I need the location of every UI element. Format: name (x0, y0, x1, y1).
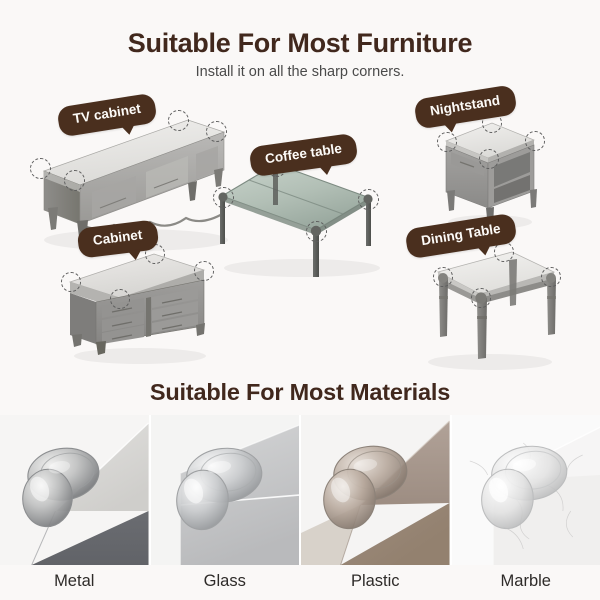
material-cell-metal (0, 415, 149, 565)
furniture-section-subtitle: Install it on all the sharp corners. (0, 64, 600, 80)
material-cell-glass (151, 415, 300, 565)
corner-marker (64, 170, 85, 191)
material-label-metal: Metal (0, 566, 149, 600)
material-label-glass: Glass (151, 566, 300, 600)
furniture-cabinet: Cabinet (58, 236, 218, 366)
corner-marker (306, 221, 327, 242)
corner-marker (437, 132, 457, 152)
corner-marker (213, 187, 234, 208)
corner-marker (479, 149, 499, 169)
material-label-plastic: Plastic (301, 566, 450, 600)
corner-guard-marble (452, 415, 600, 565)
corner-marker (541, 267, 561, 287)
corner-marker (194, 261, 214, 281)
corner-guard-glass (151, 415, 300, 565)
callout-tail-icon (477, 244, 492, 256)
product-infographic: Suitable For Most Furniture Install it o… (0, 0, 600, 600)
corner-marker (168, 110, 189, 131)
corner-marker (433, 267, 453, 287)
furniture-dining-table: Dining Table (408, 234, 568, 374)
corner-guard-metal (0, 415, 149, 565)
callout-label: Cabinet (92, 227, 143, 248)
corner-marker (358, 189, 379, 210)
material-cell-plastic (301, 415, 450, 565)
furniture-nightstand: Nightstand (418, 96, 558, 236)
corner-marker (61, 272, 81, 292)
callout-label: TV cabinet (72, 101, 142, 126)
furniture-coffee-table: Coffee table (210, 146, 390, 281)
callout-label: Nightstand (429, 93, 501, 119)
corner-marker (110, 289, 130, 309)
furniture-scene: TV cabinet (0, 86, 600, 376)
materials-section-title: Suitable For Most Materials (0, 379, 600, 406)
material-label-marble: Marble (452, 566, 600, 600)
corner-marker (525, 131, 545, 151)
corner-marker (30, 158, 51, 179)
callout-tail-icon (319, 164, 334, 176)
corner-marker (471, 288, 491, 308)
callout-tail-icon (128, 249, 143, 261)
corner-guard-plastic (301, 415, 450, 565)
materials-row (0, 415, 600, 565)
furniture-section-title: Suitable For Most Furniture (0, 28, 600, 59)
callout-label: Coffee table (264, 141, 343, 167)
corner-marker (206, 121, 227, 142)
material-labels-row: Metal Glass Plastic Marble (0, 566, 600, 600)
material-cell-marble (452, 415, 600, 565)
